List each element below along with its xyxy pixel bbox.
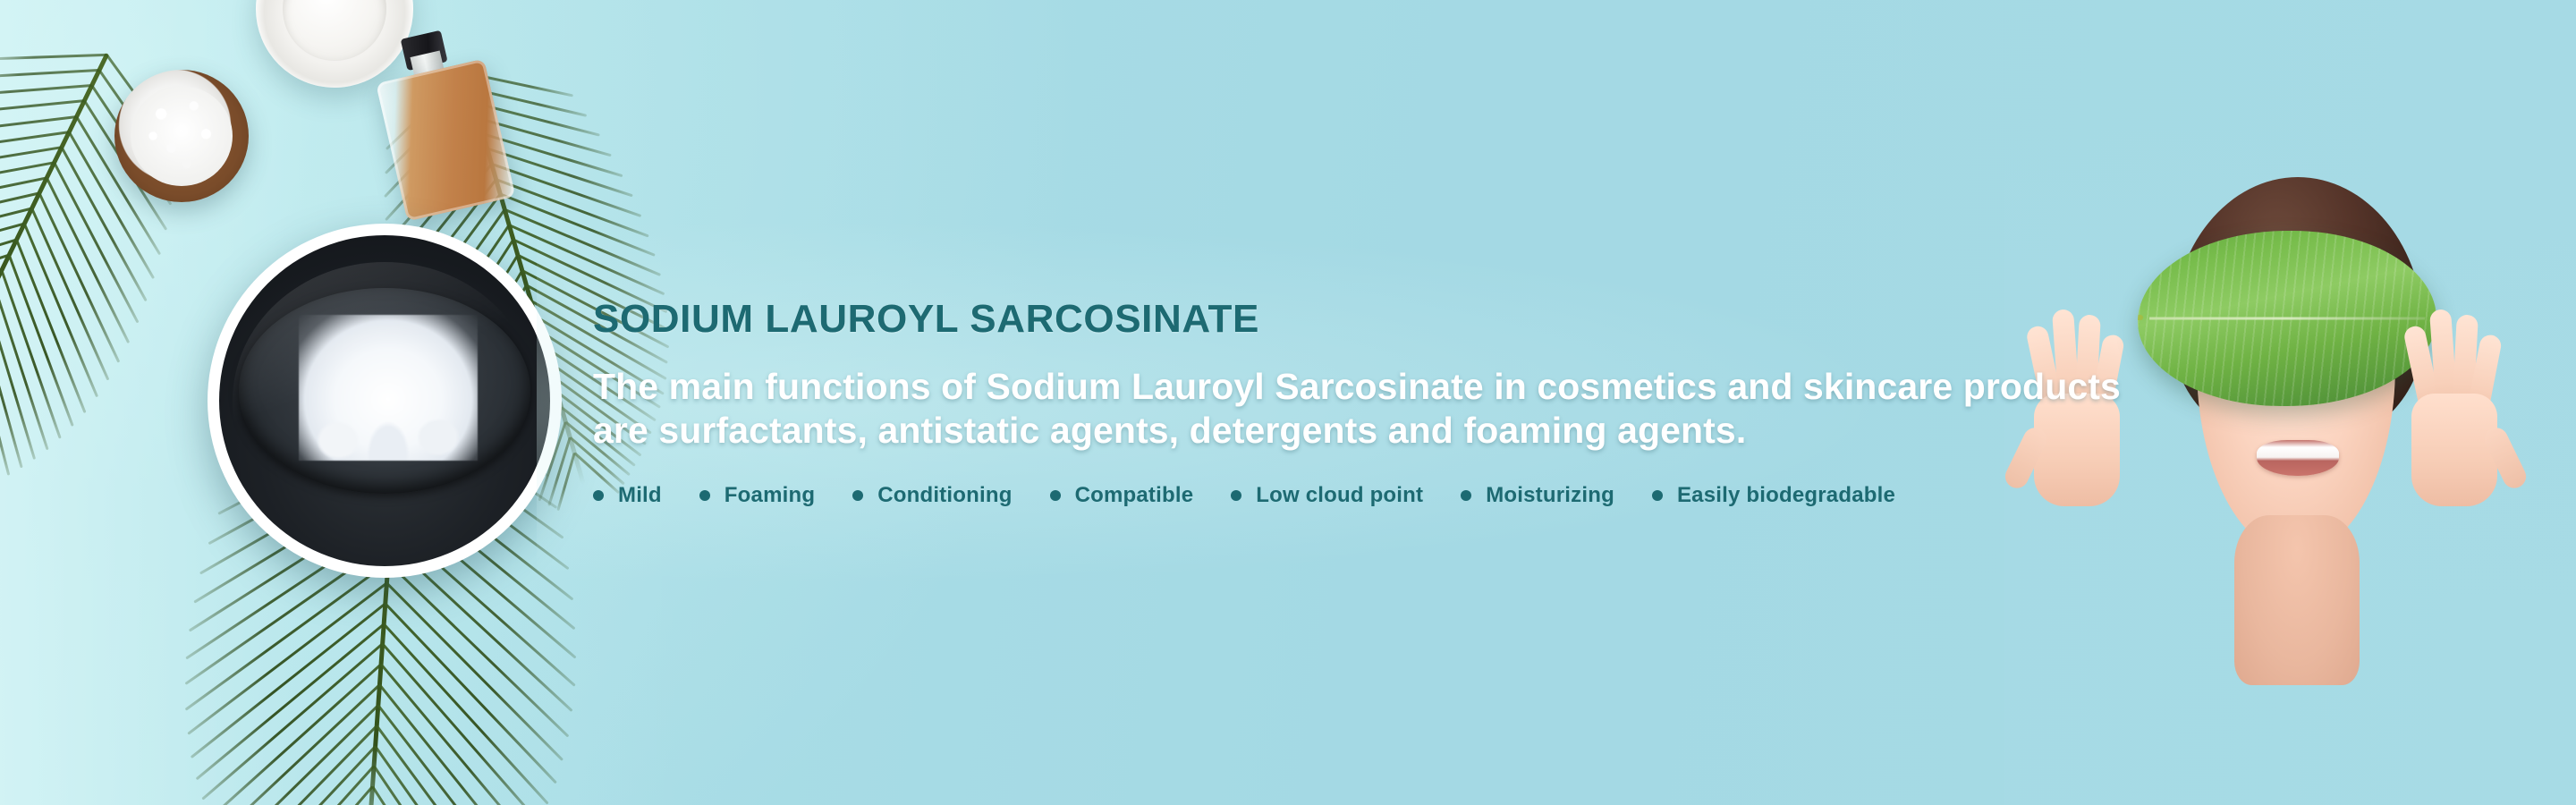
lead-line-1: The main functions of Sodium Lauroyl Sar… — [593, 365, 2131, 409]
product-photo-inner — [219, 235, 550, 566]
bullet-dot-icon — [852, 490, 863, 501]
bullet-dot-icon — [593, 490, 604, 501]
model-neck — [2234, 515, 2360, 685]
feature-item: Low cloud point — [1231, 483, 1423, 508]
product-banner: SODIUM LAUROYL SARCOSINATE The main func… — [0, 0, 2576, 805]
bullet-dot-icon — [1050, 490, 1061, 501]
frond-leaflet — [248, 745, 377, 805]
model-right-hand — [2397, 283, 2512, 506]
green-leaf-icon — [2138, 231, 2436, 406]
frond-leaflet — [23, 224, 98, 397]
feature-item: Foaming — [699, 483, 815, 508]
feature-item: Mild — [593, 483, 662, 508]
bullet-dot-icon — [1461, 490, 1471, 501]
lead-paragraph: The main functions of Sodium Lauroyl Sar… — [593, 365, 2131, 453]
feature-label: Mild — [618, 483, 662, 508]
frond-leaflet — [0, 69, 99, 79]
frond-leaflet — [0, 54, 106, 61]
frond-leaflet — [46, 177, 130, 343]
frond-leaflet — [0, 99, 84, 117]
frond-leaflet — [387, 562, 569, 738]
feature-label: Conditioning — [877, 483, 1012, 508]
frond-leaflet — [201, 643, 383, 801]
page-title: SODIUM LAUROYL SARCOSINATE — [593, 297, 2167, 342]
frond-leaflet — [385, 603, 557, 784]
product-photo-circle — [208, 224, 562, 578]
bullet-dot-icon — [699, 490, 710, 501]
frond-leaflet — [53, 162, 139, 323]
feature-label: Low cloud point — [1256, 483, 1423, 508]
feature-list: MildFoamingConditioningCompatibleLow clo… — [593, 483, 2167, 508]
feature-item: Moisturizing — [1461, 483, 1614, 508]
frond-leaflet — [0, 84, 92, 97]
frond-leaflet — [195, 623, 385, 780]
frond-leaflet — [30, 208, 109, 381]
frond-leaflet — [191, 602, 386, 758]
bullet-dot-icon — [1652, 490, 1663, 501]
model-smile — [2257, 440, 2339, 476]
feature-item: Easily biodegradable — [1652, 483, 1895, 508]
frond-leaflet — [381, 643, 539, 805]
frond-leaflet — [38, 192, 120, 362]
rim-highlight — [233, 262, 537, 540]
sea-salt-bowl — [114, 70, 249, 202]
lead-line-2: are surfactants, antistatic agents, dete… — [593, 409, 2131, 453]
bullet-dot-icon — [1231, 490, 1241, 501]
frond-leaflet — [386, 582, 563, 761]
feature-label: Moisturizing — [1486, 483, 1614, 508]
feature-label: Compatible — [1075, 483, 1194, 508]
feature-item: Conditioning — [852, 483, 1012, 508]
leaf-midrib — [2149, 318, 2424, 320]
frond-leaflet — [383, 623, 549, 804]
feature-item: Compatible — [1050, 483, 1194, 508]
palm — [2411, 394, 2497, 506]
left-product-collage — [0, 0, 680, 805]
feature-label: Foaming — [724, 483, 815, 508]
feature-label: Easily biodegradable — [1677, 483, 1895, 508]
banner-content: SODIUM LAUROYL SARCOSINATE The main func… — [593, 0, 2167, 805]
sea-salt — [131, 86, 233, 186]
frond-leaflet — [187, 582, 387, 735]
